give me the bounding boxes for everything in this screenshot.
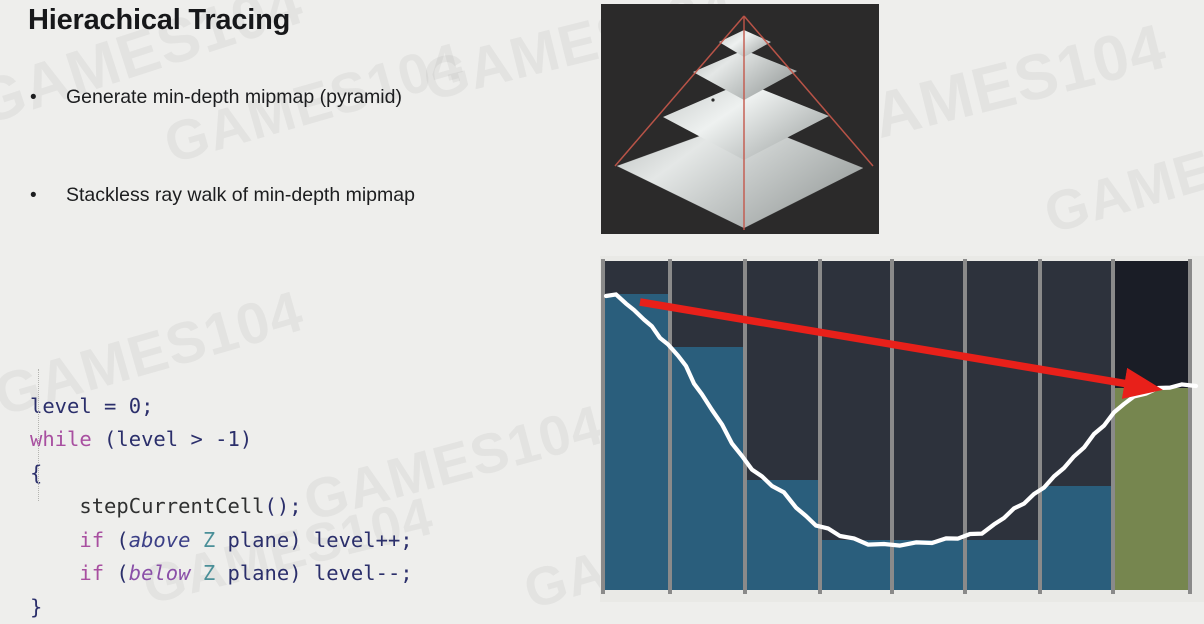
code-token-em: above	[129, 528, 191, 552]
code-line-2: {	[30, 457, 413, 491]
bullet-item-0: • Generate min-depth mipmap (pyramid)	[30, 86, 402, 109]
indent-guide	[38, 369, 40, 501]
code-token-type: Z	[203, 561, 215, 585]
pyramid-svg	[601, 4, 879, 234]
cell-diagram-svg	[600, 256, 1204, 602]
code-token-punct: plane)	[215, 528, 314, 552]
cell-min-depth-bar-6	[965, 540, 1040, 590]
bullet-dot-icon: •	[30, 186, 66, 205]
cell-gridline-8	[1188, 259, 1192, 594]
bullet-item-1: • Stackless ray walk of min-depth mipmap	[30, 184, 415, 207]
code-token-kw: if	[79, 561, 104, 585]
code-token-punct	[190, 561, 202, 585]
code-block: level = 0;while (level > -1){ stepCurren…	[30, 289, 413, 624]
code-token-punct	[190, 528, 202, 552]
code-token-punct: {	[30, 461, 42, 485]
mipmap-pyramid-figure	[601, 4, 879, 234]
min-depth-cell-diagram	[600, 256, 1204, 602]
bullet-text-0: Generate min-depth mipmap (pyramid)	[66, 86, 402, 109]
code-line-4: if (above Z plane) level++;	[30, 524, 413, 558]
page-title: Hierachical Tracing	[28, 4, 290, 37]
pyramid-speck	[711, 98, 714, 101]
code-token-num: 0	[129, 394, 141, 418]
code-token-punct: >	[178, 427, 215, 451]
code-token-fn: stepCurrentCell	[79, 494, 264, 518]
cell-min-depth-bar-8	[1113, 388, 1190, 590]
cell-min-depth-bar-3	[745, 480, 820, 590]
code-token-ident: level	[314, 528, 376, 552]
cell-gridline-0	[601, 259, 605, 594]
cell-gridline-7	[1111, 259, 1115, 594]
code-token-num: -1	[215, 427, 240, 451]
code-token-kw: if	[79, 528, 104, 552]
cell-min-depth-bar-4	[820, 540, 892, 590]
watermark-text: GAMES104	[1037, 99, 1204, 246]
cell-gridline-2	[743, 259, 747, 594]
code-line-1: while (level > -1)	[30, 423, 413, 457]
code-token-em2: below	[129, 561, 191, 585]
slide-left-pane: Hierachical Tracing • Generate min-depth…	[0, 0, 600, 614]
code-token-punct: )	[240, 427, 252, 451]
cell-min-depth-bar-2	[670, 347, 745, 590]
code-token-punct: (	[104, 528, 129, 552]
cell-gridline-3	[818, 259, 822, 594]
cell-min-depth-bar-7	[1040, 486, 1113, 590]
code-token-punct: =	[92, 394, 129, 418]
code-token-punct	[30, 561, 79, 585]
code-line-5: if (below Z plane) level--;	[30, 557, 413, 591]
cell-min-depth-bar-5	[892, 540, 965, 590]
bullet-text-1: Stackless ray walk of min-depth mipmap	[66, 184, 415, 207]
code-token-punct: ;	[141, 394, 153, 418]
code-line-0: level = 0;	[30, 390, 413, 424]
code-token-punct: plane)	[215, 561, 314, 585]
code-token-punct: ++;	[376, 528, 413, 552]
code-token-punct: (	[104, 561, 129, 585]
cell-gridline-6	[1038, 259, 1042, 594]
code-token-punct	[30, 528, 79, 552]
code-token-punct: (	[92, 427, 117, 451]
code-token-ident: level	[314, 561, 376, 585]
code-line-6: }	[30, 591, 413, 624]
code-token-ident: level	[116, 427, 178, 451]
cell-gridline-5	[963, 259, 967, 594]
code-token-punct: ();	[265, 494, 302, 518]
code-token-punct: }	[30, 595, 42, 619]
bullet-dot-icon: •	[30, 88, 66, 107]
code-line-3: stepCurrentCell();	[30, 490, 413, 524]
code-token-punct: --;	[376, 561, 413, 585]
code-token-type: Z	[203, 528, 215, 552]
